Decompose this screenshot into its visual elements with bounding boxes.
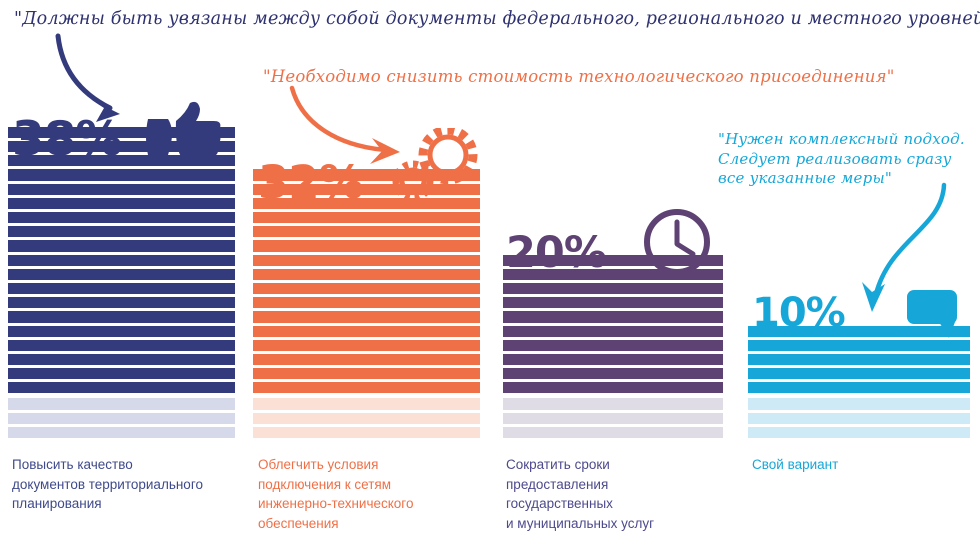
quote-federal-regional-local: "Должны быть увязаны между собой докумен… <box>14 8 980 31</box>
bar-stripe-filled <box>503 311 723 322</box>
bar-stripe-filled <box>8 141 235 152</box>
bar-stripe-empty <box>748 398 970 409</box>
bar-stripe-filled <box>8 212 235 223</box>
bar-stripe-filled <box>8 226 235 237</box>
bar-stripe-filled <box>253 340 480 351</box>
bar-stripe-empty <box>503 413 723 424</box>
caption-service-terms: Сократить сроки предоставления государст… <box>506 455 731 533</box>
bar-stripe-filled <box>748 340 970 351</box>
bar-stripe-filled <box>8 368 235 379</box>
bar-service-terms <box>503 255 723 438</box>
bar-stripe-filled <box>8 326 235 337</box>
bar-stripe-filled <box>748 326 970 337</box>
bar-stripe-empty <box>503 427 723 438</box>
bar-stripe-filled <box>503 382 723 393</box>
bar-stripe-filled <box>8 297 235 308</box>
quote-complex-approach: "Нужен комплексный подход. Следует реали… <box>718 130 965 189</box>
bar-stripe-filled <box>748 382 970 393</box>
bar-stripe-filled <box>253 198 480 209</box>
bar-stripe-filled <box>503 255 723 266</box>
infographic-canvas: "Должны быть увязаны между собой докумен… <box>0 0 980 542</box>
bar-stripe-filled <box>253 240 480 251</box>
bar-stripe-filled <box>8 184 235 195</box>
bar-stripe-filled <box>8 255 235 266</box>
bar-stripe-filled <box>503 368 723 379</box>
bar-stripe-filled <box>8 269 235 280</box>
bar-stripe-filled <box>503 269 723 280</box>
bar-stripe-empty <box>8 427 235 438</box>
bar-stripe-empty <box>253 427 480 438</box>
caption-own-option: Свой вариант <box>752 455 977 475</box>
bar-stripe-filled <box>8 382 235 393</box>
bar-stripe-empty <box>503 398 723 409</box>
bar-stripe-filled <box>748 368 970 379</box>
bar-stripe-filled <box>253 184 480 195</box>
bar-stripe-filled <box>8 198 235 209</box>
bar-stripe-filled <box>253 311 480 322</box>
bar-stripe-filled <box>253 212 480 223</box>
bar-stripe-filled <box>8 340 235 351</box>
bar-stripe-filled <box>253 354 480 365</box>
bar-stripe-filled <box>8 311 235 322</box>
bar-stripe-filled <box>8 155 235 166</box>
bar-stripe-filled <box>253 255 480 266</box>
bar-stripe-filled <box>253 326 480 337</box>
bar-stripe-filled <box>253 269 480 280</box>
bar-stripe-filled <box>253 382 480 393</box>
bar-stripe-filled <box>8 169 235 180</box>
bar-stripe-filled <box>503 354 723 365</box>
bar-stripe-empty <box>8 413 235 424</box>
bar-quality-documents <box>8 127 235 438</box>
bar-stripe-filled <box>748 354 970 365</box>
bar-connection-conditions <box>253 169 480 438</box>
bar-stripe-filled <box>253 368 480 379</box>
bar-stripe-filled <box>8 127 235 138</box>
bar-stripe-filled <box>8 354 235 365</box>
bar-stripe-filled <box>8 283 235 294</box>
bar-stripe-filled <box>8 240 235 251</box>
bar-stripe-filled <box>503 340 723 351</box>
bar-stripe-filled <box>503 297 723 308</box>
bar-stripe-filled <box>503 283 723 294</box>
bar-stripe-filled <box>253 297 480 308</box>
bar-stripe-empty <box>8 398 235 409</box>
bar-stripe-empty <box>748 413 970 424</box>
bar-stripe-empty <box>253 398 480 409</box>
bar-stripe-filled <box>253 283 480 294</box>
caption-quality-documents: Повысить качество документов территориал… <box>12 455 237 514</box>
bar-stripe-filled <box>253 226 480 237</box>
caption-connection-conditions: Облегчить условия подключения к сетям ин… <box>258 455 483 533</box>
bar-stripe-filled <box>503 326 723 337</box>
bar-stripe-empty <box>253 413 480 424</box>
bar-stripe-filled <box>253 169 480 180</box>
bar-stripe-empty <box>748 427 970 438</box>
bar-own-option <box>748 326 970 439</box>
